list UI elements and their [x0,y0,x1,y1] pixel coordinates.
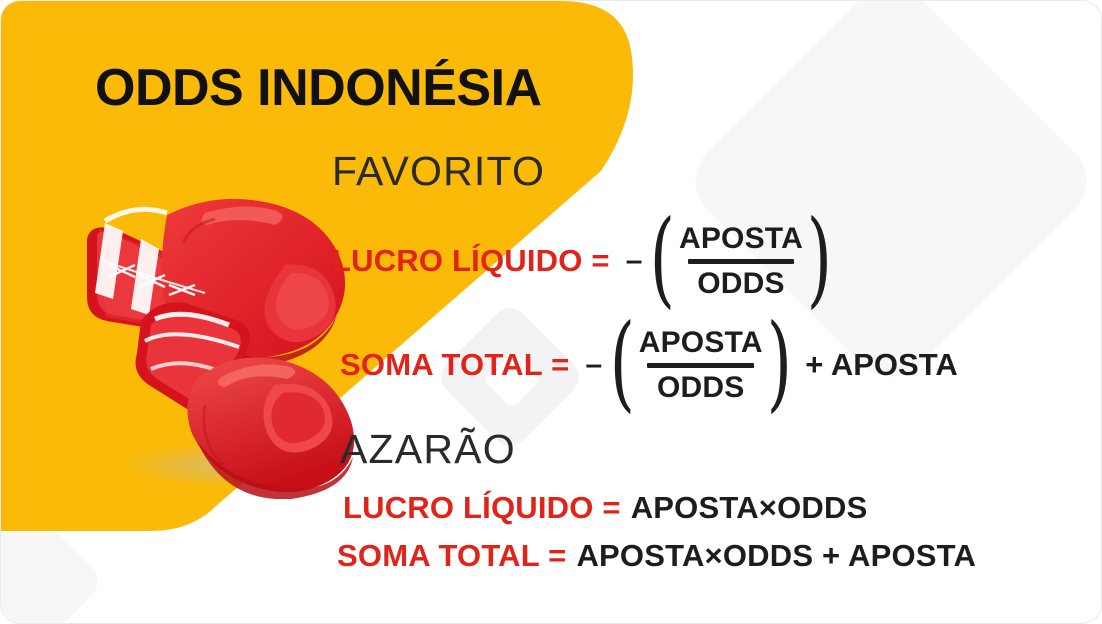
paren-close-icon: ) [766,325,791,400]
fraction-group: ( APOSTA ODDS ) [608,327,793,404]
formula-favorito-lucro-liquido: LUCRO LÍQUIDO = – ( APOSTA ODDS ) [332,223,834,300]
formula-label-lucro-liquido: LUCRO LÍQUIDO = [343,490,621,526]
formula-label-soma-total: SOMA TOTAL = [337,538,566,574]
fraction-group: ( APOSTA ODDS ) [648,223,833,300]
minus-sign: – [569,350,608,380]
paren-open-icon: ( [650,221,675,296]
formula-expression: APOSTA×ODDS [621,490,868,526]
formula-azarao-soma-total: SOMA TOTAL = APOSTA×ODDS + APOSTA [337,538,976,574]
boxing-gloves-icon [79,169,379,499]
fraction-denominator: ODDS [657,372,744,404]
paren-close-icon: ) [807,221,832,296]
fraction-bar [647,363,754,368]
fraction-denominator: ODDS [697,268,784,300]
paren-open-icon: ( [610,325,635,400]
odds-indonesia-card: ODDS INDONÉSIA FAVORITO LUCRO LÍQUIDO = … [0,0,1102,624]
section-label-favorito: FAVORITO [332,148,545,195]
formula-tail: + APOSTA [793,347,957,383]
fraction: APOSTA ODDS [677,223,805,300]
page-title: ODDS INDONÉSIA [95,58,542,118]
fraction-bar [688,259,795,264]
formula-label-soma-total: SOMA TOTAL = [340,347,569,383]
fraction: APOSTA ODDS [637,327,765,404]
formula-label-lucro-liquido: LUCRO LÍQUIDO = [332,243,610,279]
formula-azarao-lucro-liquido: LUCRO LÍQUIDO = APOSTA×ODDS [343,490,867,526]
fraction-numerator: APOSTA [679,223,803,255]
minus-sign: – [610,246,649,276]
formula-favorito-soma-total: SOMA TOTAL = – ( APOSTA ODDS ) + APOSTA [340,327,958,404]
formula-expression: APOSTA×ODDS + APOSTA [566,538,976,574]
section-label-azarao: AZARÃO [340,426,516,473]
fraction-numerator: APOSTA [639,327,763,359]
